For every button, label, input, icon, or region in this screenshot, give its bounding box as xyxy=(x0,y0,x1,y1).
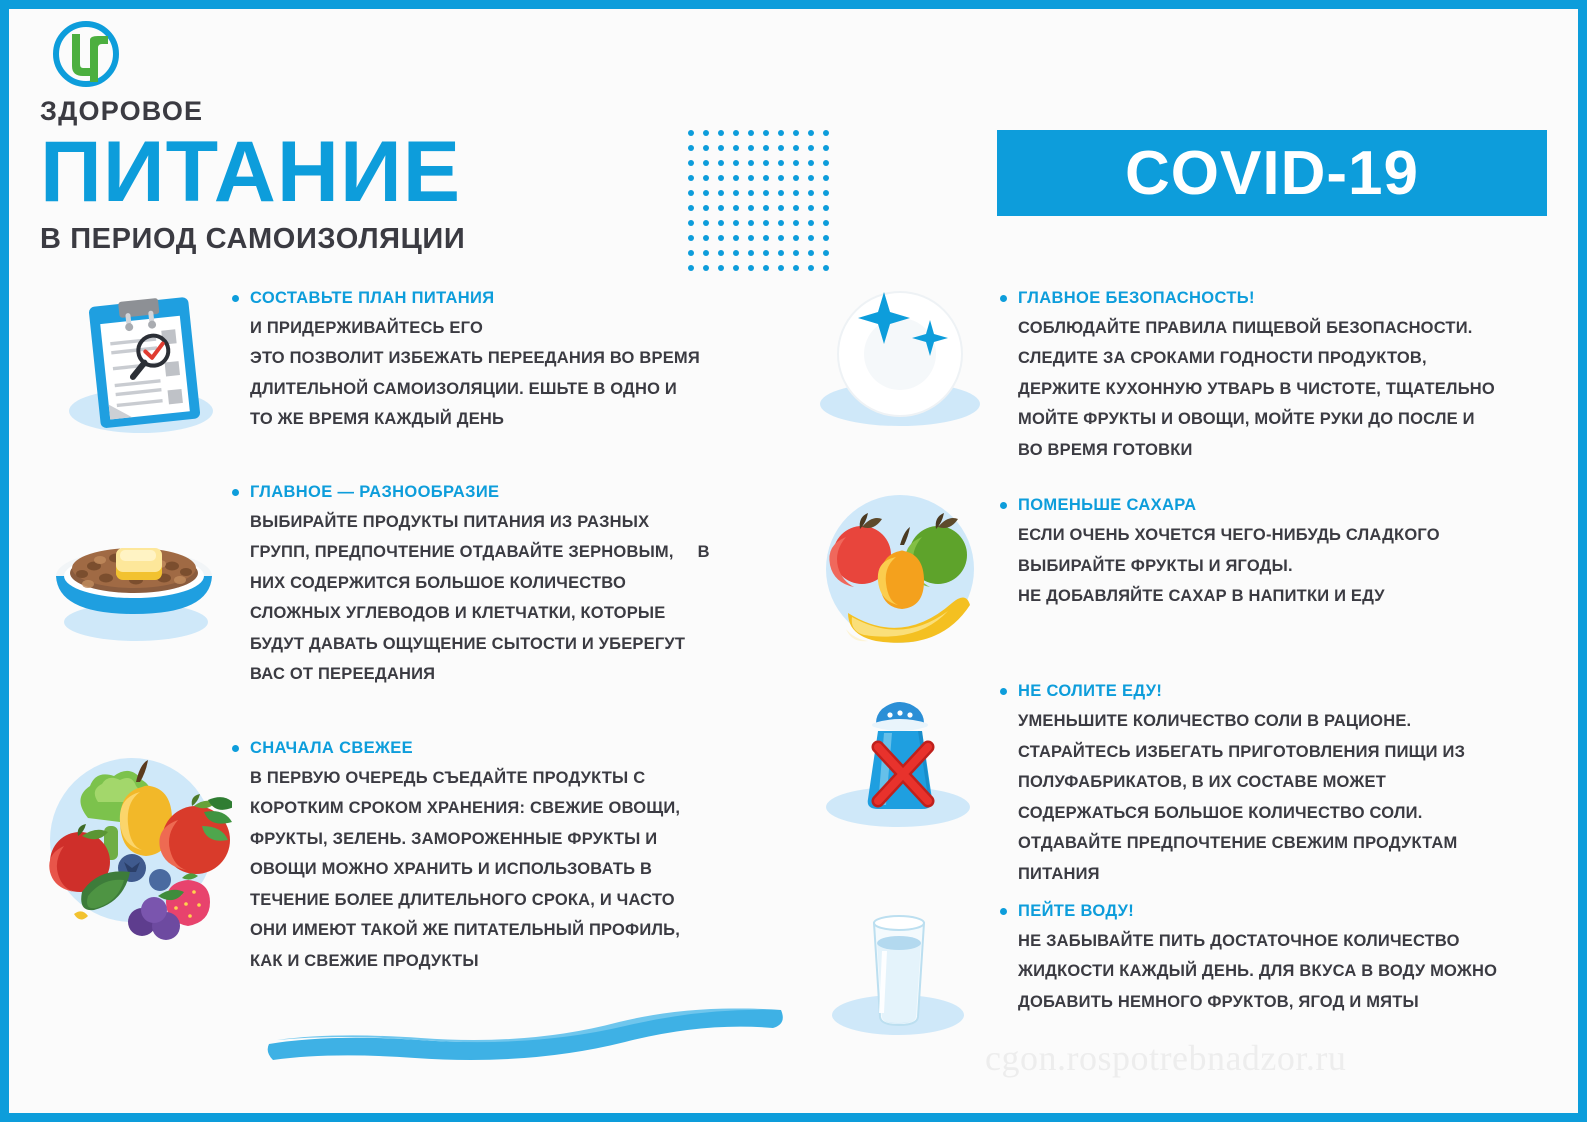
headline-block: ЗДОРОВОЕ ПИТАНИЕ В ПЕРИОД САМОИЗОЛЯЦИИ xyxy=(40,98,680,254)
tip-line: БУДУТ ДАВАТЬ ОЩУЩЕНИЕ СЫТОСТИ И УБЕРЕГУТ xyxy=(250,629,766,660)
tip-line: ВЫБИРАЙТЕ ФРУКТЫ И ЯГОДЫ. xyxy=(1018,551,1555,582)
page-title: ПИТАНИЕ xyxy=(40,129,680,217)
tip-block: ПОМЕНЬШЕ САХАРА ЕСЛИ ОЧЕНЬ ХОЧЕТСЯ ЧЕГО-… xyxy=(800,493,1555,653)
tip-text: ГЛАВНОЕ — РАЗНООБРАЗИЕ ВЫБИРАЙТЕ ПРОДУКТ… xyxy=(232,480,766,690)
tip-line: КОРОТКИМ СРОКОМ ХРАНЕНИЯ: СВЕЖИЕ ОВОЩИ, xyxy=(250,793,766,824)
blue-brush-stroke-icon xyxy=(265,1000,785,1065)
decorative-dot-grid xyxy=(688,130,833,280)
tip-title: НЕ СОЛИТЕ ЕДУ! xyxy=(1018,679,1162,704)
tip-line: СЛЕДИТЕ ЗА СРОКАМИ ГОДНОСТИ ПРОДУКТОВ, xyxy=(1018,343,1555,374)
tip-text: ПЕЙТЕ ВОДУ! НЕ ЗАБЫВАЙТЕ ПИТЬ ДОСТАТОЧНО… xyxy=(1000,899,1555,1049)
bullet-dot-icon xyxy=(232,745,239,752)
tip-line: МОЙТЕ ФРУКТЫ И ОВОЩИ, МОЙТЕ РУКИ ДО ПОСЛ… xyxy=(1018,404,1555,435)
tip-text: ПОМЕНЬШЕ САХАРА ЕСЛИ ОЧЕНЬ ХОЧЕТСЯ ЧЕГО-… xyxy=(1000,493,1555,653)
tip-line: УМЕНЬШИТЕ КОЛИЧЕСТВО СОЛИ В РАЦИОНЕ. xyxy=(1018,706,1555,737)
tip-text: НЕ СОЛИТЕ ЕДУ! УМЕНЬШИТЕ КОЛИЧЕСТВО СОЛИ… xyxy=(1000,679,1555,889)
tip-line: ГРУПП, ПРЕДПОЧТЕНИЕ ОТДАВАЙТЕ ЗЕРНОВЫМ, … xyxy=(250,537,766,568)
tip-line: ЭТО ПОЗВОЛИТ ИЗБЕЖАТЬ ПЕРЕЕДАНИЯ ВО ВРЕМ… xyxy=(250,343,766,374)
tip-line: ДОБАВИТЬ НЕМНОГО ФРУКТОВ, ЯГОД И МЯТЫ xyxy=(1018,987,1555,1018)
bullet-dot-icon xyxy=(1000,688,1007,695)
tip-line: НЕ ДОБАВЛЯЙТЕ САХАР В НАПИТКИ И ЕДУ xyxy=(1018,581,1555,612)
tip-text: ГЛАВНОЕ БЕЗОПАСНОСТЬ! СОБЛЮДАЙТЕ ПРАВИЛА… xyxy=(1000,286,1555,465)
left-column: СОСТАВЬТЕ ПЛАН ПИТАНИЯ И ПРИДЕРЖИВАЙТЕСЬ… xyxy=(36,286,766,976)
tip-text: СОСТАВЬТЕ ПЛАН ПИТАНИЯ И ПРИДЕРЖИВАЙТЕСЬ… xyxy=(232,286,766,436)
tip-block: СОСТАВЬТЕ ПЛАН ПИТАНИЯ И ПРИДЕРЖИВАЙТЕСЬ… xyxy=(36,286,766,436)
tip-title: ПОМЕНЬШЕ САХАРА xyxy=(1018,493,1196,518)
tip-line: КАК И СВЕЖИЕ ПРОДУКТЫ xyxy=(250,946,766,977)
headline-subtitle: В ПЕРИОД САМОИЗОЛЯЦИИ xyxy=(40,225,680,254)
water-glass-icon xyxy=(800,899,1000,1049)
tip-line: НЕ ЗАБЫВАЙТЕ ПИТЬ ДОСТАТОЧНОЕ КОЛИЧЕСТВО xyxy=(1018,926,1555,957)
tip-line: ПИТАНИЯ xyxy=(1018,859,1555,890)
cgon-circle-logo-icon xyxy=(50,18,122,90)
tip-line: ФРУКТЫ, ЗЕЛЕНЬ. ЗАМОРОЖЕННЫЕ ФРУКТЫ И xyxy=(250,824,766,855)
tip-body: ВЫБИРАЙТЕ ПРОДУКТЫ ПИТАНИЯ ИЗ РАЗНЫХ ГРУ… xyxy=(232,507,766,690)
tip-line: ОВОЩИ МОЖНО ХРАНИТЬ И ИСПОЛЬЗОВАТЬ В xyxy=(250,854,766,885)
salt-shaker-no-icon xyxy=(800,679,1000,854)
tip-line: ВАС ОТ ПЕРЕЕДАНИЯ xyxy=(250,659,766,690)
bullet-dot-icon xyxy=(1000,295,1007,302)
tip-body: В ПЕРВУЮ ОЧЕРЕДЬ СЪЕДАЙТЕ ПРОДУКТЫ С КОР… xyxy=(232,763,766,977)
headline-supertitle: ЗДОРОВОЕ xyxy=(40,98,680,125)
tip-line: НИХ СОДЕРЖИТСЯ БОЛЬШОЕ КОЛИЧЕСТВО xyxy=(250,568,766,599)
top-accent-bar xyxy=(0,0,1587,9)
fruits-vegetables-circle-icon xyxy=(36,726,232,946)
bullet-dot-icon xyxy=(1000,502,1007,509)
tip-line: СТАРАЙТЕСЬ ИЗБЕГАТЬ ПРИГОТОВЛЕНИЯ ПИЩИ И… xyxy=(1018,737,1555,768)
tip-body: СОБЛЮДАЙТЕ ПРАВИЛА ПИЩЕВОЙ БЕЗОПАСНОСТИ.… xyxy=(1000,313,1555,466)
tip-block: СНАЧАЛА СВЕЖЕЕ В ПЕРВУЮ ОЧЕРЕДЬ СЪЕДАЙТЕ… xyxy=(36,726,766,976)
site-watermark: cgon.rospotrebnadzor.ru xyxy=(985,1037,1346,1079)
tip-line: ЖИДКОСТИ КАЖДЫЙ ДЕНЬ. ДЛЯ ВКУСА В ВОДУ М… xyxy=(1018,956,1555,987)
covid-badge-label: COVID-19 xyxy=(1125,138,1419,209)
tip-line: ТО ЖЕ ВРЕМЯ КАЖДЫЙ ДЕНЬ xyxy=(250,404,766,435)
tip-line: ПОЛУФАБРИКАТОВ, В ИХ СОСТАВЕ МОЖЕТ xyxy=(1018,767,1555,798)
tip-title: СНАЧАЛА СВЕЖЕЕ xyxy=(250,736,413,761)
tip-line: ОТДАВАЙТЕ ПРЕДПОЧТЕНИЕ СВЕЖИМ ПРОДУКТАМ xyxy=(1018,828,1555,859)
tip-title: ПЕЙТЕ ВОДУ! xyxy=(1018,899,1134,924)
tip-line: ЕСЛИ ОЧЕНЬ ХОЧЕТСЯ ЧЕГО-НИБУДЬ СЛАДКОГО xyxy=(1018,520,1555,551)
tip-line: И ПРИДЕРЖИВАЙТЕСЬ ЕГО xyxy=(250,313,766,344)
tip-line: ВЫБИРАЙТЕ ПРОДУКТЫ ПИТАНИЯ ИЗ РАЗНЫХ xyxy=(250,507,766,538)
fruit-face-icon xyxy=(800,493,1000,653)
covid-badge: COVID-19 xyxy=(997,130,1547,216)
tip-line: ОНИ ИМЕЮТ ТАКОЙ ЖЕ ПИТАТЕЛЬНЫЙ ПРОФИЛЬ, xyxy=(250,915,766,946)
tip-line: СЛОЖНЫХ УГЛЕВОДОВ И КЛЕТЧАТКИ, КОТОРЫЕ xyxy=(250,598,766,629)
bullet-dot-icon xyxy=(232,295,239,302)
tip-line: ТЕЧЕНИЕ БОЛЕЕ ДЛИТЕЛЬНОГО СРОКА, И ЧАСТО xyxy=(250,885,766,916)
tip-block: ГЛАВНОЕ БЕЗОПАСНОСТЬ! СОБЛЮДАЙТЕ ПРАВИЛА… xyxy=(800,286,1555,465)
bullet-dot-icon xyxy=(232,489,239,496)
tip-line: СОБЛЮДАЙТЕ ПРАВИЛА ПИЩЕВОЙ БЕЗОПАСНОСТИ. xyxy=(1018,313,1555,344)
tip-block: ПЕЙТЕ ВОДУ! НЕ ЗАБЫВАЙТЕ ПИТЬ ДОСТАТОЧНО… xyxy=(800,899,1555,1049)
bottom-accent-bar xyxy=(0,1113,1587,1122)
clipboard-checklist-icon xyxy=(36,286,232,436)
poster-canvas: ЗДОРОВОЕ ПИТАНИЕ В ПЕРИОД САМОИЗОЛЯЦИИ C… xyxy=(0,0,1587,1122)
tip-text: СНАЧАЛА СВЕЖЕЕ В ПЕРВУЮ ОЧЕРЕДЬ СЪЕДАЙТЕ… xyxy=(232,726,766,976)
tip-block: ГЛАВНОЕ — РАЗНООБРАЗИЕ ВЫБИРАЙТЕ ПРОДУКТ… xyxy=(36,480,766,690)
porridge-bowl-icon xyxy=(36,480,232,670)
tip-line: СОДЕРЖАТЬСЯ БОЛЬШОЕ КОЛИЧЕСТВО СОЛИ. xyxy=(1018,798,1555,829)
clean-plate-sparkle-icon xyxy=(800,286,1000,446)
tip-body: НЕ ЗАБЫВАЙТЕ ПИТЬ ДОСТАТОЧНОЕ КОЛИЧЕСТВО… xyxy=(1000,926,1555,1018)
tip-block: НЕ СОЛИТЕ ЕДУ! УМЕНЬШИТЕ КОЛИЧЕСТВО СОЛИ… xyxy=(800,679,1555,889)
right-accent-edge xyxy=(1578,0,1587,1122)
tip-line: ДЕРЖИТЕ КУХОННУЮ УТВАРЬ В ЧИСТОТЕ, ТЩАТЕ… xyxy=(1018,374,1555,405)
tip-body: УМЕНЬШИТЕ КОЛИЧЕСТВО СОЛИ В РАЦИОНЕ. СТА… xyxy=(1000,706,1555,889)
tip-body: ЕСЛИ ОЧЕНЬ ХОЧЕТСЯ ЧЕГО-НИБУДЬ СЛАДКОГО … xyxy=(1000,520,1555,612)
tip-line: ДЛИТЕЛЬНОЙ САМОИЗОЛЯЦИИ. ЕШЬТЕ В ОДНО И xyxy=(250,374,766,405)
tip-body: И ПРИДЕРЖИВАЙТЕСЬ ЕГО ЭТО ПОЗВОЛИТ ИЗБЕЖ… xyxy=(232,313,766,435)
right-column: ГЛАВНОЕ БЕЗОПАСНОСТЬ! СОБЛЮДАЙТЕ ПРАВИЛА… xyxy=(800,286,1555,1049)
left-accent-edge xyxy=(0,0,9,1122)
tip-line: В ПЕРВУЮ ОЧЕРЕДЬ СЪЕДАЙТЕ ПРОДУКТЫ С xyxy=(250,763,766,794)
tip-title: СОСТАВЬТЕ ПЛАН ПИТАНИЯ xyxy=(250,286,494,311)
bullet-dot-icon xyxy=(1000,908,1007,915)
tip-line: ВО ВРЕМЯ ГОТОВКИ xyxy=(1018,435,1555,466)
tip-title: ГЛАВНОЕ БЕЗОПАСНОСТЬ! xyxy=(1018,286,1255,311)
tip-title: ГЛАВНОЕ — РАЗНООБРАЗИЕ xyxy=(250,480,499,505)
